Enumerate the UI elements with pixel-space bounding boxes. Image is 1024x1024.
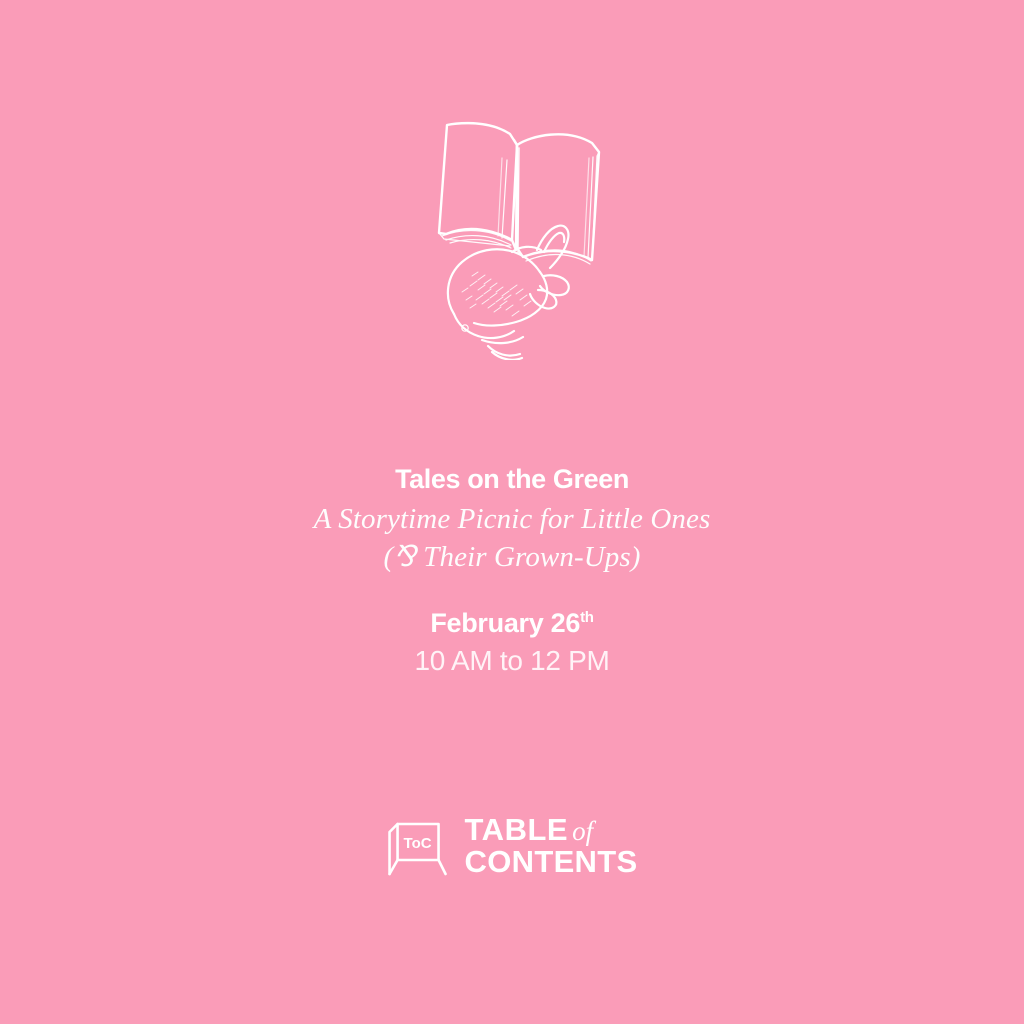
event-subtitle-line-1: A Storytime Picnic for Little Ones bbox=[0, 500, 1024, 538]
table-of-contents-logo[interactable]: ToC TABLEof CONTENTS bbox=[387, 812, 638, 880]
event-date: February 26th bbox=[0, 606, 1024, 640]
event-poster: Tales on the Green A Storytime Picnic fo… bbox=[0, 0, 1024, 1024]
event-date-ordinal-suffix: th bbox=[580, 609, 594, 626]
event-time: 10 AM to 12 PM bbox=[0, 643, 1024, 679]
event-date-text: February 26 bbox=[430, 608, 580, 638]
event-subtitle-line-2: (⅋ Their Grown-Ups) bbox=[0, 538, 1024, 576]
hand-holding-open-book-illustration bbox=[392, 100, 632, 360]
logo-word-contents: CONTENTS bbox=[465, 846, 638, 878]
event-title: Tales on the Green bbox=[0, 462, 1024, 496]
logo-mark-text: ToC bbox=[404, 835, 432, 852]
logo-word-table: TABLE bbox=[465, 812, 569, 847]
event-text-block: Tales on the Green A Storytime Picnic fo… bbox=[0, 462, 1024, 576]
logo-line-table-of: TABLEof bbox=[465, 815, 638, 846]
logo-word-of: of bbox=[568, 816, 593, 846]
event-date-block: February 26th 10 AM to 12 PM bbox=[0, 606, 1024, 679]
logo-wordmark: TABLEof CONTENTS bbox=[465, 815, 638, 878]
table-outline-icon: ToC bbox=[387, 812, 449, 880]
